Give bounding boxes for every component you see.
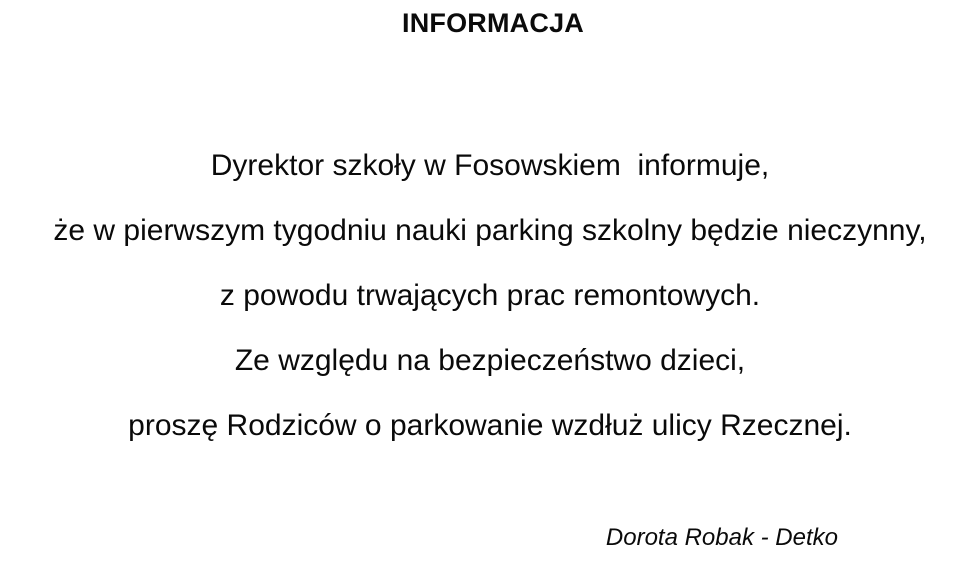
notice-body-line-2: że w pierwszym tygodniu nauki parking sz… bbox=[0, 198, 980, 263]
notice-body-line-5: proszę Rodziców o parkowanie wzdłuż ulic… bbox=[0, 393, 980, 458]
notice-signature: Dorota Robak - Detko bbox=[606, 524, 838, 551]
notice-title: INFORMACJA bbox=[0, 6, 980, 40]
notice-signature-row: Dorota Robak - Detko bbox=[0, 521, 980, 555]
notice-body-line-3: z powodu trwających prac remontowych. bbox=[0, 263, 980, 328]
notice-body-line-4: Ze względu na bezpieczeństwo dzieci, bbox=[0, 328, 980, 393]
notice-body-line-1: Dyrektor szkoły w Fosowskiem informuje, bbox=[0, 133, 980, 198]
notice-document: INFORMACJA Dyrektor szkoły w Fosowskiem … bbox=[0, 0, 980, 579]
notice-body: Dyrektor szkoły w Fosowskiem informuje, … bbox=[0, 133, 980, 458]
notice-title-text: INFORMACJA bbox=[402, 6, 584, 40]
